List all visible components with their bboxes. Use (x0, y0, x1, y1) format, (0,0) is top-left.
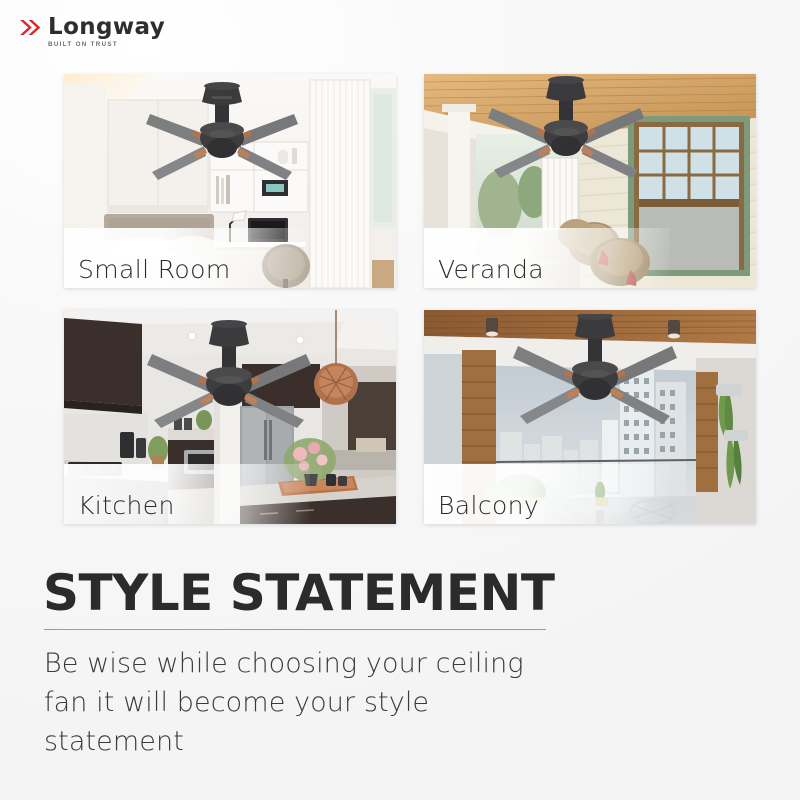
brand-wordmark: Longway BUILT ON TRUST (48, 16, 165, 48)
ceiling-fan-icon (510, 314, 680, 432)
scene-tile-kitchen[interactable]: Kitchen (64, 310, 396, 524)
double-chevron-right-icon (19, 19, 41, 36)
brand-name: Longway (48, 16, 165, 39)
subcopy-text: Be wise while choosing your ceiling fan … (44, 644, 564, 761)
brand-tagline: BUILT ON TRUST (48, 42, 165, 48)
page-title: STYLE STATEMENT (43, 568, 554, 618)
poster-canvas: Longway BUILT ON TRUST (0, 0, 800, 800)
brand-logo: Longway BUILT ON TRUST (19, 16, 165, 48)
scene-tile-balcony[interactable]: Balcony (424, 310, 756, 524)
ceiling-fan-icon (486, 76, 646, 186)
scene-tile-veranda[interactable]: Veranda (424, 74, 756, 288)
title-divider (44, 629, 546, 630)
ceiling-fan-icon (144, 320, 314, 436)
scene-grid: Small Room (64, 74, 756, 536)
scene-tile-small-room[interactable]: Small Room (64, 74, 396, 288)
ceiling-fan-icon (142, 80, 302, 190)
